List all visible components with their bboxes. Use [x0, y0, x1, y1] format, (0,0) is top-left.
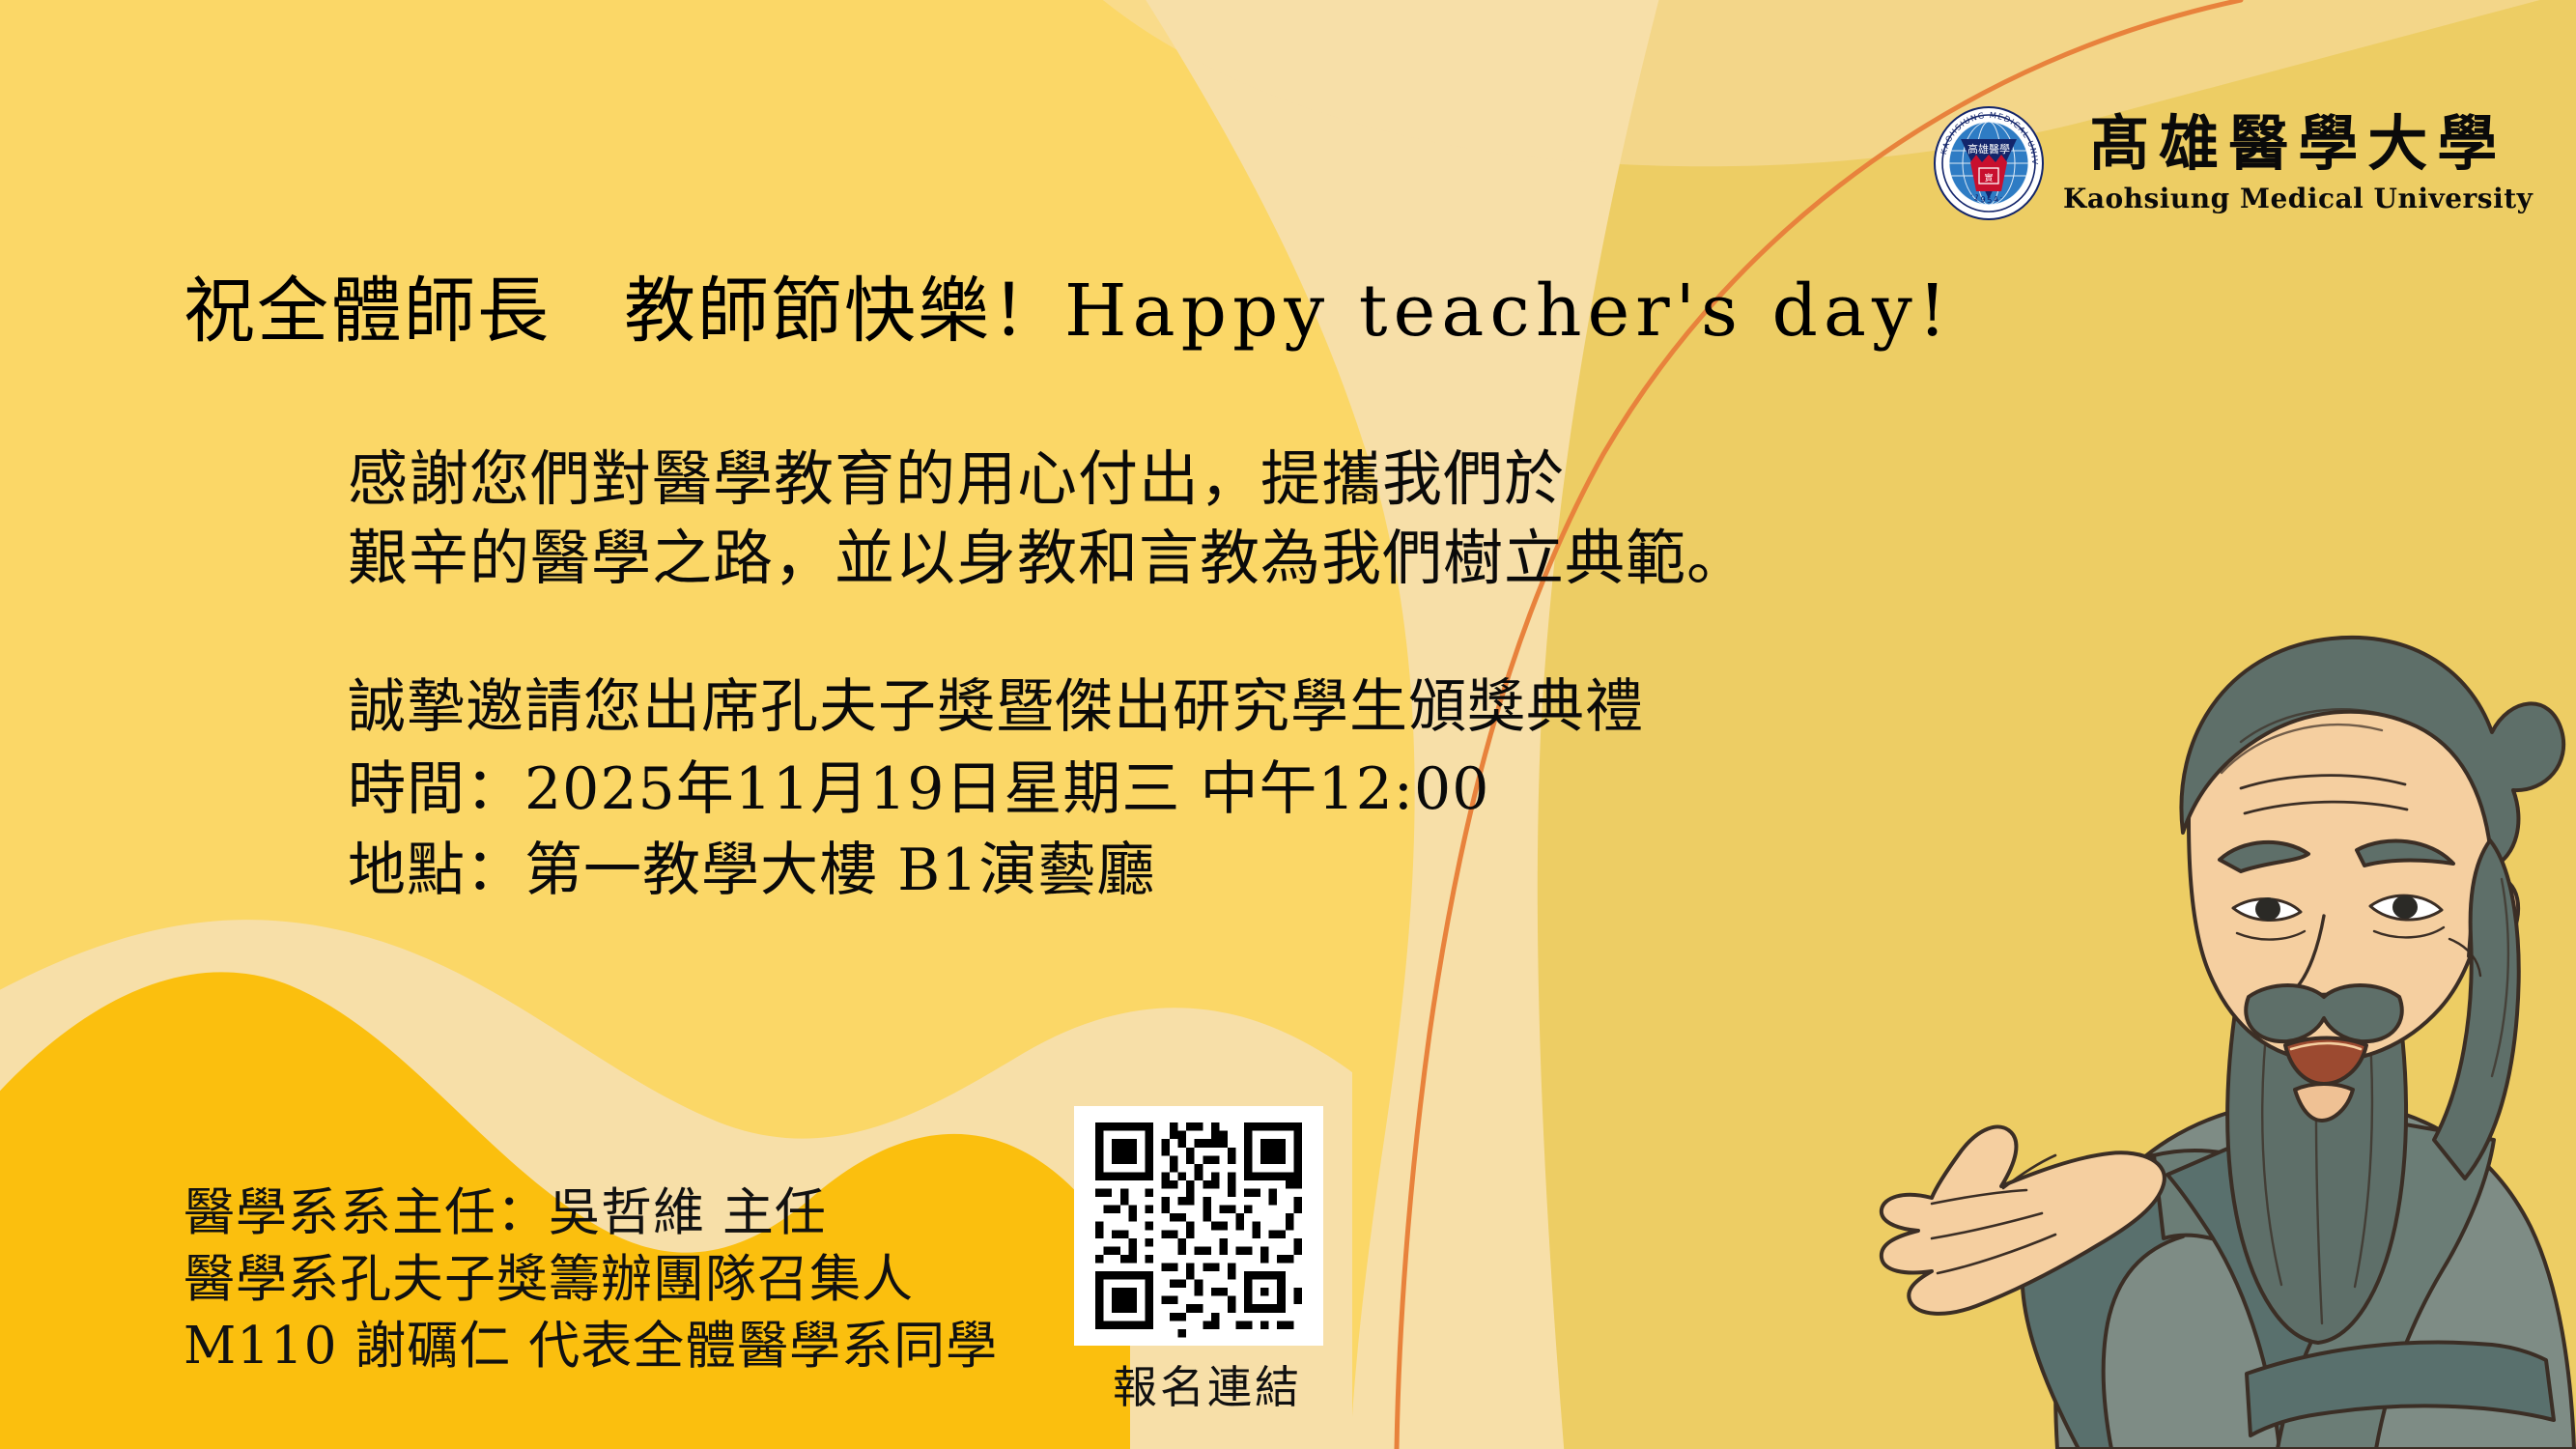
signature-line-1: 醫學系系主任：吳哲維 主任: [184, 1180, 998, 1247]
body-paragraph: 感謝您們對醫學教育的用心付出，提攜我們於 艱辛的醫學之路，並以身教和言教為我們樹…: [348, 440, 1747, 599]
svg-text:高雄醫學: 高雄醫學: [1967, 142, 2010, 156]
signature-block: 醫學系系主任：吳哲維 主任 醫學系孔夫子獎籌辦團隊召集人 M110 謝礪仁 代表…: [184, 1180, 998, 1380]
kmu-emblem-icon: 高雄醫學 實 KAOHSIUNG MEDICAL UNIVERSITY ·195…: [1932, 106, 2046, 220]
invitation-venue: 地點：第一教學大樓 B1演藝廳: [348, 830, 1644, 912]
headline-cn: 祝全體師長 教師節快樂！: [184, 270, 1064, 353]
invitation-line: 誠摯邀請您出席孔夫子獎暨傑出研究學生頒獎典禮: [348, 667, 1644, 749]
confucius-illustration: [1642, 560, 2576, 1449]
kmu-name-cn: 髙雄醫學大學: [2089, 114, 2506, 174]
headline: 祝全體師長 教師節快樂！Happy teacher's day!: [184, 275, 1953, 347]
body-line-2: 艱辛的醫學之路，並以身教和言教為我們樹立典範。: [348, 519, 1747, 598]
svg-text:實: 實: [1984, 172, 1993, 184]
invitation-block: 誠摯邀請您出席孔夫子獎暨傑出研究學生頒獎典禮 時間：2025年11月19日星期三…: [348, 667, 1644, 912]
signature-line-2: 醫學系孔夫子獎籌辦團隊召集人: [184, 1247, 998, 1314]
poster-canvas: 高雄醫學 實 KAOHSIUNG MEDICAL UNIVERSITY ·195…: [0, 0, 2576, 1449]
kmu-name-en: Kaohsiung Medical University: [2063, 185, 2533, 213]
qr-code-image[interactable]: [1074, 1106, 1323, 1346]
signature-line-3: M110 謝礪仁 代表全體醫學系同學: [184, 1314, 998, 1380]
invitation-time: 時間：2025年11月19日星期三 中午12:00: [348, 749, 1644, 831]
qr-caption: 報名連結: [1101, 1352, 1314, 1416]
qr-code-block[interactable]: [1074, 1106, 1323, 1346]
headline-en: Happy teacher's day!: [1064, 270, 1953, 353]
body-line-1: 感謝您們對醫學教育的用心付出，提攜我們於: [348, 440, 1747, 519]
kmu-logo: 高雄醫學 實 KAOHSIUNG MEDICAL UNIVERSITY ·195…: [1932, 106, 2533, 220]
kmu-logo-text: 髙雄醫學大學 Kaohsiung Medical University: [2063, 114, 2533, 213]
